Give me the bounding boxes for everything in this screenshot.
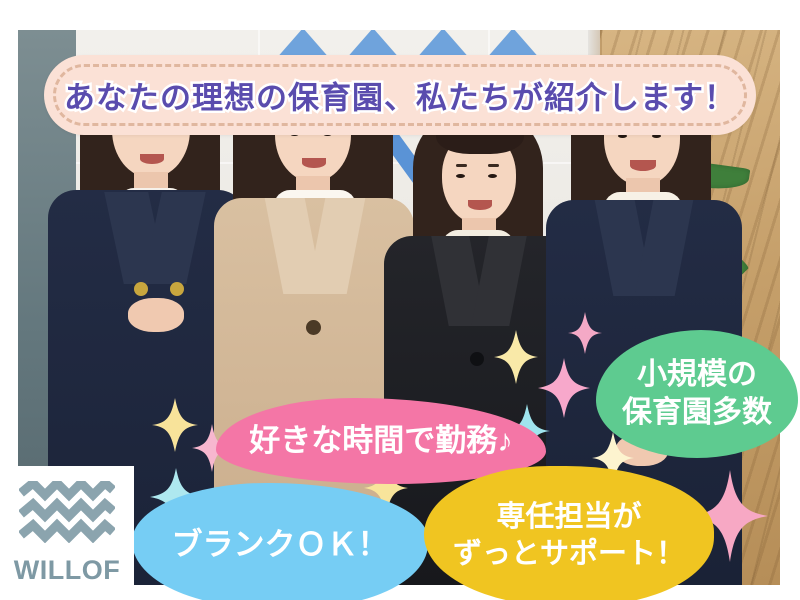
willof-logo: WILLOF: [0, 466, 134, 600]
bubble-dedicated-support: 専任担当が ずっとサポート！: [424, 466, 714, 600]
willof-brand-text: WILLOF: [14, 555, 120, 586]
sparkle-pink-small-icon: [568, 312, 602, 354]
headline-banner: あなたの理想の保育園、私たちが紹介します！: [44, 55, 756, 135]
bubble-yellow-line2: ずっとサポート！: [453, 536, 685, 573]
bubble-blank-ok: ブランクＯＫ！: [132, 483, 428, 600]
poster-canvas: WILLOF: [0, 0, 800, 600]
sparkle-yellow-icon: [494, 330, 538, 384]
bubble-green-line2: 保育園多数: [622, 394, 772, 432]
bubble-green-line1: 小規模の: [622, 356, 772, 394]
willof-zigzag-icon: [19, 481, 115, 548]
bubble-pink-text: 好きな時間で勤務♪: [249, 421, 513, 461]
bubble-yellow-line1: 専任担当が: [453, 499, 685, 536]
bubble-blue-text: ブランクＯＫ！: [172, 525, 389, 565]
headline-text: あなたの理想の保育園、私たちが紹介します！: [44, 73, 756, 118]
